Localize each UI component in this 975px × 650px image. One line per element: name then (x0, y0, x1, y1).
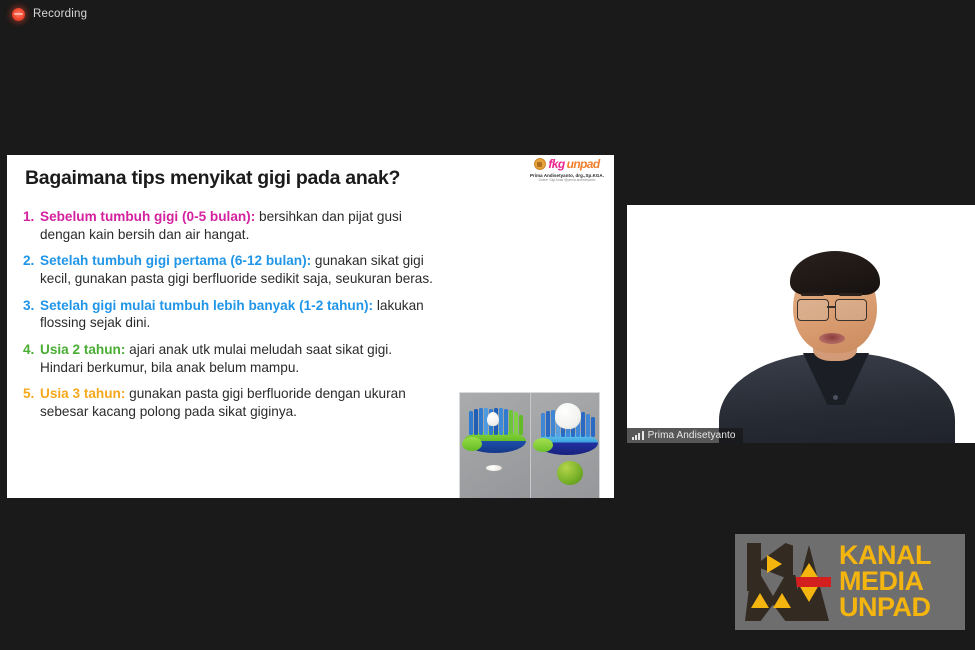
tip-number: 2. (23, 252, 40, 287)
signal-bars-icon (632, 431, 644, 440)
meeting-stage: Recording Bagaimana tips menyikat gigi p… (0, 0, 975, 650)
kanal-media-unpad-watermark: KANAL MEDIA UNPAD (735, 534, 965, 630)
photo-pane-pea-amount (530, 393, 601, 498)
kmu-monogram-icon (745, 541, 831, 623)
participant-name-tag: Prima Andisetyanto (627, 428, 743, 443)
brand-unpad-text: unpad (567, 158, 600, 170)
participant-name: Prima Andisetyanto (648, 430, 736, 441)
list-item: 5. Usia 3 tahun: gunakan pasta gigi berf… (23, 385, 437, 420)
watermark-text: KANAL MEDIA UNPAD (839, 543, 931, 621)
tip-body: Usia 3 tahun: gunakan pasta gigi berfluo… (40, 385, 437, 420)
brand-fkg-text: fkg (548, 158, 564, 170)
slide-title: Bagaimana tips menyikat gigi pada anak? (25, 167, 400, 190)
tip-lead: Usia 2 tahun: (40, 342, 125, 357)
brand-presenter-subtitle: Dokter Gigi Anak @prima.andisetyanto (526, 179, 608, 183)
watermark-line-3: UNPAD (839, 595, 931, 621)
tip-body: Setelah tumbuh gigi pertama (6-12 bulan)… (40, 252, 437, 287)
tip-body: Sebelum tumbuh gigi (0-5 bulan): bersihk… (40, 208, 437, 243)
tip-number: 5. (23, 385, 40, 420)
fkg-unpad-branding: fkgunpad Prima Andisetyanto, drg.,Sp.KGA… (526, 158, 608, 183)
list-item: 3. Setelah gigi mulai tumbuh lebih banya… (23, 297, 437, 332)
list-item: 1. Sebelum tumbuh gigi (0-5 bulan): bers… (23, 208, 437, 243)
tip-number: 4. (23, 341, 40, 376)
tip-lead: Sebelum tumbuh gigi (0-5 bulan): (40, 209, 255, 224)
participant-video-tile[interactable]: Prima Andisetyanto (627, 205, 975, 443)
toothbrush-toothpaste-amount-photo (459, 392, 600, 498)
watermark-inner: KANAL MEDIA UNPAD (741, 540, 959, 624)
tip-body: Usia 2 tahun: ajari anak utk mulai melud… (40, 341, 437, 376)
tip-lead: Setelah tumbuh gigi pertama (6-12 bulan)… (40, 253, 311, 268)
shared-slide: Bagaimana tips menyikat gigi pada anak? … (7, 155, 614, 498)
tip-number: 3. (23, 297, 40, 332)
recording-label: Recording (33, 8, 87, 20)
recording-indicator: Recording (0, 0, 975, 28)
tip-lead: Setelah gigi mulai tumbuh lebih banyak (… (40, 298, 373, 313)
tips-list: 1. Sebelum tumbuh gigi (0-5 bulan): bers… (23, 208, 437, 430)
list-item: 2. Setelah tumbuh gigi pertama (6-12 bul… (23, 252, 437, 287)
presenter-figure (627, 205, 975, 443)
photo-pane-rice-amount (460, 393, 530, 498)
slide-header: Bagaimana tips menyikat gigi pada anak? … (7, 155, 614, 202)
list-item: 4. Usia 2 tahun: ajari anak utk mulai me… (23, 341, 437, 376)
university-crest-icon (534, 158, 546, 170)
tip-lead: Usia 3 tahun: (40, 386, 125, 401)
tip-number: 1. (23, 208, 40, 243)
tip-body: Setelah gigi mulai tumbuh lebih banyak (… (40, 297, 437, 332)
brand-logo: fkgunpad (526, 158, 608, 170)
record-dot-icon (12, 8, 25, 21)
